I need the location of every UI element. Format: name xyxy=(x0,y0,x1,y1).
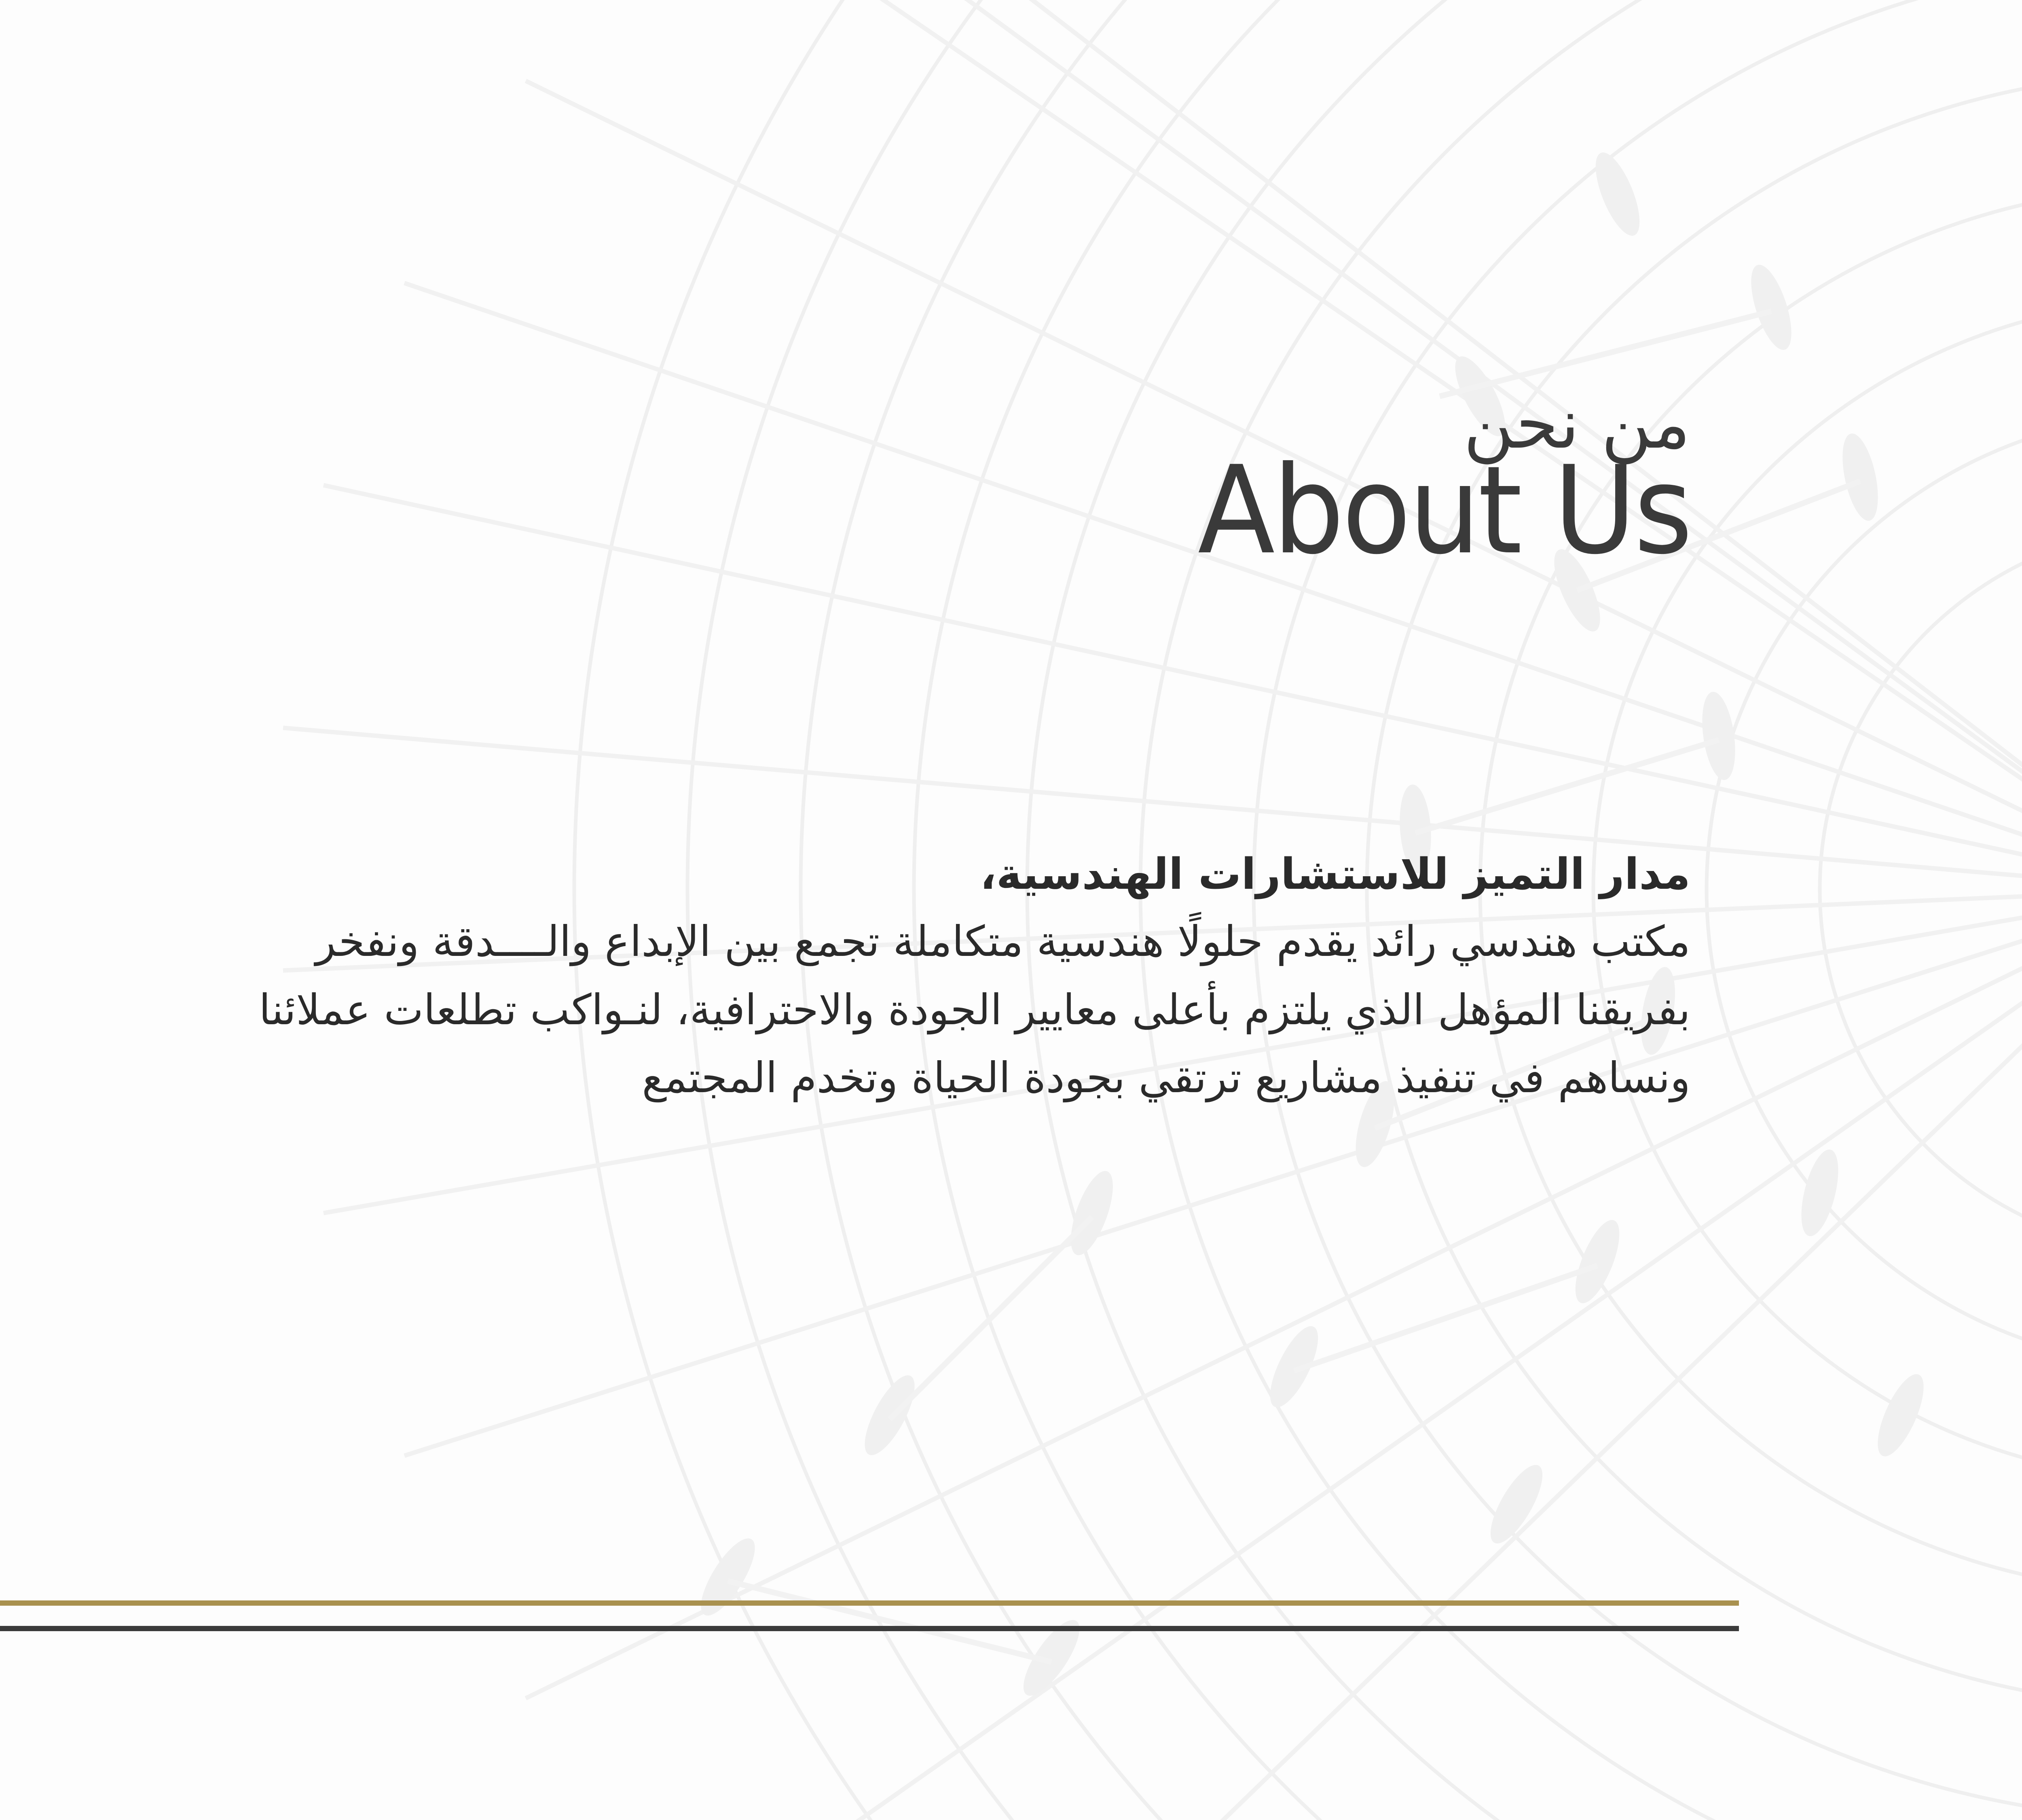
slide-about-us: الهيئة السعودية للمهندسين SAUDI CONCIL O… xyxy=(0,0,2022,1820)
about-line-2: بفريقنا المؤهل الذي يلتزم بأعلى معايير ا… xyxy=(0,976,1690,1044)
footer-rule-dark xyxy=(0,1626,1739,1631)
about-line-3: ونساهم في تنفيذ مشاريع ترتقي بجودة الحيا… xyxy=(0,1044,1690,1112)
page-title: من نحن About Us xyxy=(1161,388,1690,571)
footer-divider-rules xyxy=(0,1600,1739,1631)
footer-rule-gold xyxy=(0,1600,1739,1606)
about-line-1: مكتب هندسي رائد يقدم حلولًا هندسية متكام… xyxy=(0,907,1690,975)
footer: مــدار التميز للاستشارات الهندسية 050003… xyxy=(0,1577,2022,1706)
about-paragraph: مدار التميز للاستشارات الهندسية، مكتب هن… xyxy=(0,841,1690,1112)
page-title-english: About Us xyxy=(1198,450,1690,571)
about-lead-line: مدار التميز للاستشارات الهندسية، xyxy=(0,841,1690,907)
